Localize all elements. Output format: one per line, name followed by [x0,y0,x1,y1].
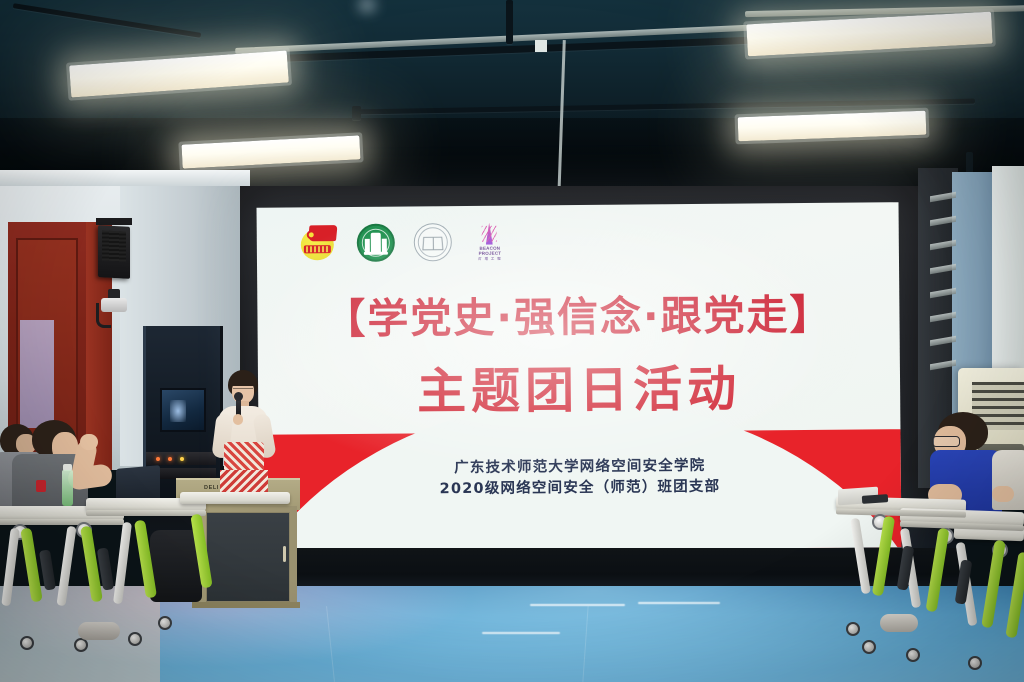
desk-left-edge-2 [86,510,206,516]
desk-left-caster-1 [20,636,34,650]
presenter-hand [233,414,243,425]
slide-footer: 广东技术师范大学网络空间安全学院 2020级网络空间安全（师范）班团支部 [259,454,901,502]
book-emblem-icon [413,222,453,262]
floor-light-reflection-1 [530,604,625,606]
speaker-bracket [96,218,132,225]
wall-speaker-icon [98,225,130,279]
ceiling-bracket-right [966,152,973,172]
ceiling-dome-light [360,0,374,10]
student-right-rear-hand [992,486,1014,502]
rack-monitor [160,388,206,432]
ceiling-conduit-vertical [506,0,513,44]
desk-right-caster-3 [906,648,920,662]
floor-light-reflection-2 [638,602,720,604]
desk-right-caster-4 [968,656,982,670]
student-right-glasses-icon [932,436,960,447]
beacon-logo-text-en: BEACON PROJECT [479,246,502,257]
slide-title-main: 【学党史·强信念·跟党走】 [257,280,899,346]
desk-right-caster-1 [846,622,860,636]
wall-camera-icon [101,298,127,312]
desk-left-3 [180,492,290,504]
desk-left-leg-dark-1 [39,549,56,590]
slide-logo-row: BEACON PROJECT 灯 塔 工 程 [299,222,510,264]
student-left-front-badge [36,480,46,492]
student-right-rear [992,450,1024,520]
student-right-shoe [880,614,918,632]
lectern-front-panel [206,512,290,602]
projection-screen: BEACON PROJECT 灯 塔 工 程 【学党史·强信念·跟党走】 主题团… [257,202,902,553]
desk-left-caster-2 [74,638,88,652]
student-left-shoe [78,622,120,640]
slide-surface: BEACON PROJECT 灯 塔 工 程 【学党史·强信念·跟党走】 主题团… [257,202,902,553]
communist-youth-league-badge-icon [299,223,339,263]
presenter-fringe [229,376,257,386]
wall-top-trim [0,170,250,186]
photograph-classroom-presentation: BEACON PROJECT 灯 塔 工 程 【学党史·强信念·跟党走】 主题团… [0,0,1024,682]
water-bottle [62,470,73,506]
cable-junction-box [535,40,547,52]
desk-left-caster-4 [158,616,172,630]
presenter-apron-lower [220,470,268,492]
microphone-head-icon [234,392,243,401]
university-seal-icon [356,223,396,263]
beacon-logo-text-cn: 灯 塔 工 程 [470,256,510,262]
floor-light-reflection-3 [482,632,560,634]
door-glass [20,320,54,428]
ceiling-bracket-left [352,106,361,120]
slide-title-sub: 主题团日活动 [258,348,901,425]
lectern-handle[interactable] [283,546,286,562]
desk-left-caster-3 [128,632,142,646]
ceiling-light-4 [738,111,927,142]
ceiling-light-3 [181,135,360,168]
desk-right-caster-2 [862,640,876,654]
lectern-base [192,602,300,608]
presenter [206,370,278,490]
beacon-project-logo-icon: BEACON PROJECT 灯 塔 工 程 [470,222,510,262]
student-left-front-hand [80,434,98,450]
